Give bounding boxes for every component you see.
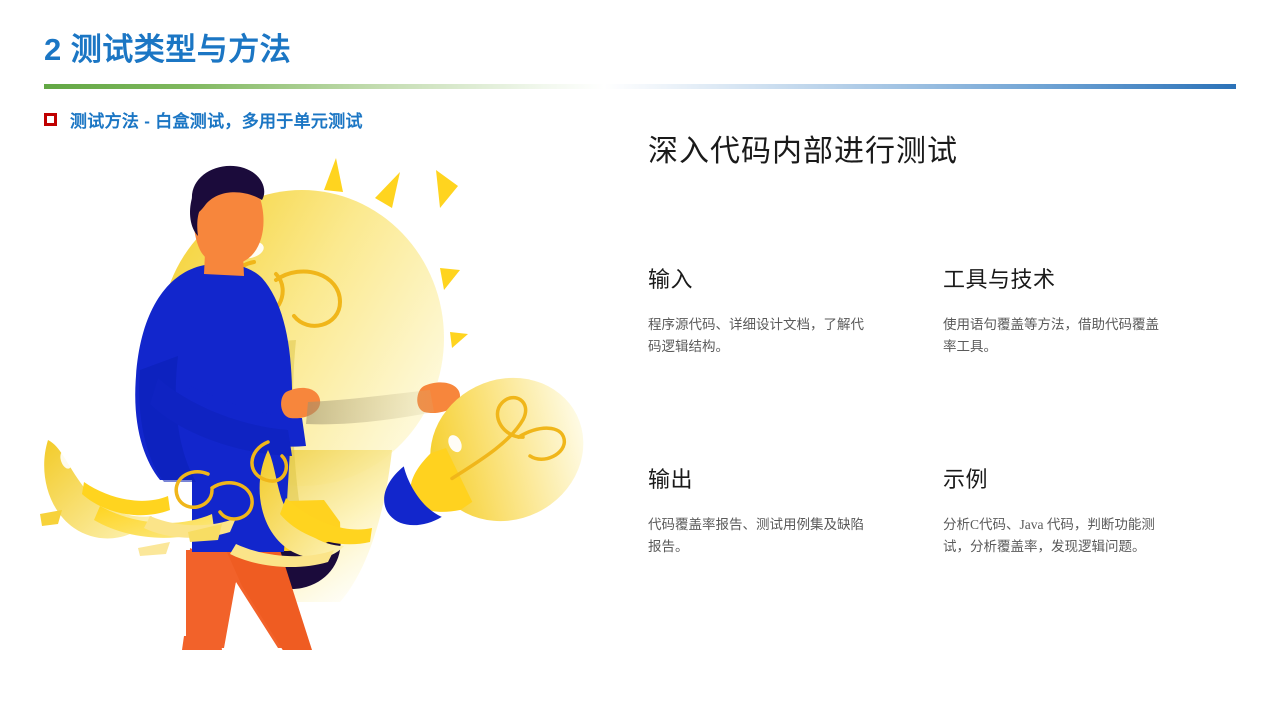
quadrant-output: 输出 代码覆盖率报告、测试用例集及缺陷报告。 bbox=[648, 462, 943, 602]
person-holding-lightbulb-illustration bbox=[40, 150, 610, 650]
red-square-bullet-icon bbox=[44, 113, 57, 126]
page-title: 2测试类型与方法 bbox=[44, 24, 291, 69]
quadrant-body: 分析C代码、Java 代码，判断功能测试，分析覆盖率，发现逻辑问题。 bbox=[943, 514, 1165, 558]
content-heading: 深入代码内部进行测试 bbox=[648, 126, 958, 170]
quadrant-tools-and-techniques: 工具与技术 使用语句覆盖等方法，借助代码覆盖率工具。 bbox=[943, 262, 1220, 462]
quadrant-body: 代码覆盖率报告、测试用例集及缺陷报告。 bbox=[648, 514, 870, 558]
quadrant-body: 使用语句覆盖等方法，借助代码覆盖率工具。 bbox=[943, 314, 1165, 358]
slide-number: 2 bbox=[44, 32, 62, 67]
quadrant-title: 输出 bbox=[648, 462, 921, 494]
quadrant-title: 输入 bbox=[648, 262, 921, 294]
quadrant-body: 程序源代码、详细设计文档，了解代码逻辑结构。 bbox=[648, 314, 870, 358]
slide-title-text: 测试类型与方法 bbox=[71, 32, 292, 67]
quadrant-example: 示例 分析C代码、Java 代码，判断功能测试，分析覆盖率，发现逻辑问题。 bbox=[943, 462, 1220, 602]
sub-heading: 测试方法 - 白盒测试，多用于单元测试 bbox=[44, 107, 363, 132]
sub-heading-text: 测试方法 - 白盒测试，多用于单元测试 bbox=[70, 107, 363, 132]
quadrant-title: 工具与技术 bbox=[943, 262, 1198, 294]
slide-root: 2测试类型与方法 测试方法 - 白盒测试，多用于单元测试 bbox=[0, 0, 1280, 720]
quadrant-title: 示例 bbox=[943, 462, 1198, 494]
quadrant-input: 输入 程序源代码、详细设计文档，了解代码逻辑结构。 bbox=[648, 262, 943, 462]
quadrant-grid: 输入 程序源代码、详细设计文档，了解代码逻辑结构。 工具与技术 使用语句覆盖等方… bbox=[648, 262, 1220, 592]
title-divider bbox=[44, 84, 1236, 89]
